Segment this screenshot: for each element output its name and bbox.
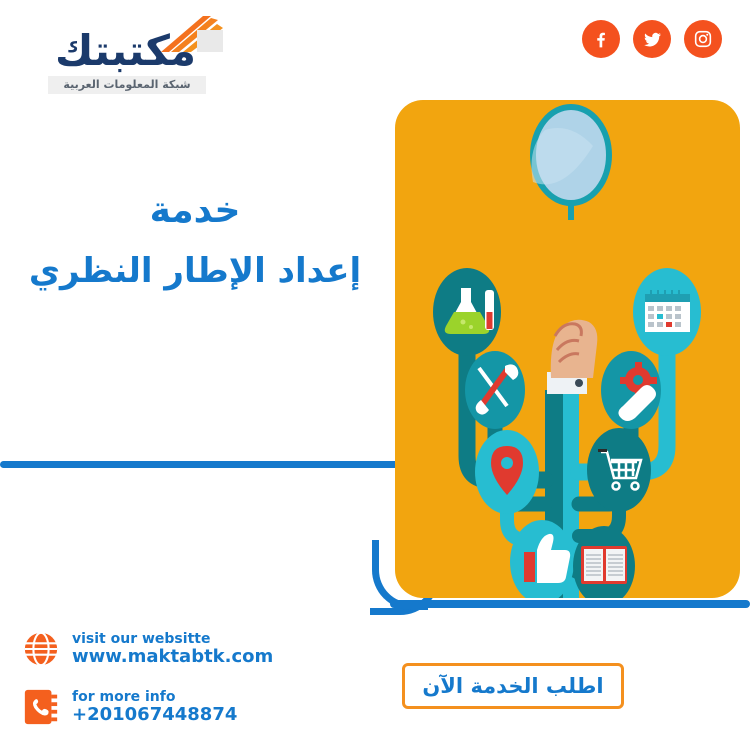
brand-logo[interactable]: مكتبتك شبكة المعلومات العربية — [18, 14, 233, 94]
order-service-button[interactable]: اطلب الخدمة الآن — [402, 663, 624, 709]
logo-subtitle: شبكة المعلومات العربية — [48, 76, 206, 94]
globe-icon — [18, 625, 64, 673]
phone-label: for more info — [72, 689, 237, 705]
website-label: visit our websitte — [72, 631, 273, 647]
illustration-card — [395, 100, 740, 598]
facebook-icon[interactable] — [582, 20, 620, 58]
logo-pages-icon — [155, 14, 225, 54]
twitter-icon[interactable] — [633, 20, 671, 58]
instagram-icon[interactable] — [684, 20, 722, 58]
poster-canvas: مكتبتك شبكة المعلومات العربية خدمة إعداد… — [0, 0, 750, 750]
headline-block: خدمة إعداد الإطار النظري — [0, 182, 390, 302]
phone-book-icon — [18, 683, 64, 731]
phone-value[interactable]: +201067448874 — [72, 705, 237, 726]
decorative-blue-line-middle — [0, 461, 420, 468]
social-links — [582, 20, 722, 58]
headline-line-2: إعداد الإطار النظري — [0, 240, 390, 302]
contact-row-website[interactable]: visit our websitte www.maktabtk.com — [18, 625, 273, 673]
research-tree-illustration — [395, 100, 740, 598]
website-value[interactable]: www.maktabtk.com — [72, 647, 273, 668]
contact-block: visit our websitte www.maktabtk.com for … — [18, 625, 273, 741]
decorative-blue-line-bottom — [390, 600, 750, 608]
headline-line-1: خدمة — [0, 182, 390, 240]
contact-row-phone[interactable]: for more info +201067448874 — [18, 683, 273, 731]
